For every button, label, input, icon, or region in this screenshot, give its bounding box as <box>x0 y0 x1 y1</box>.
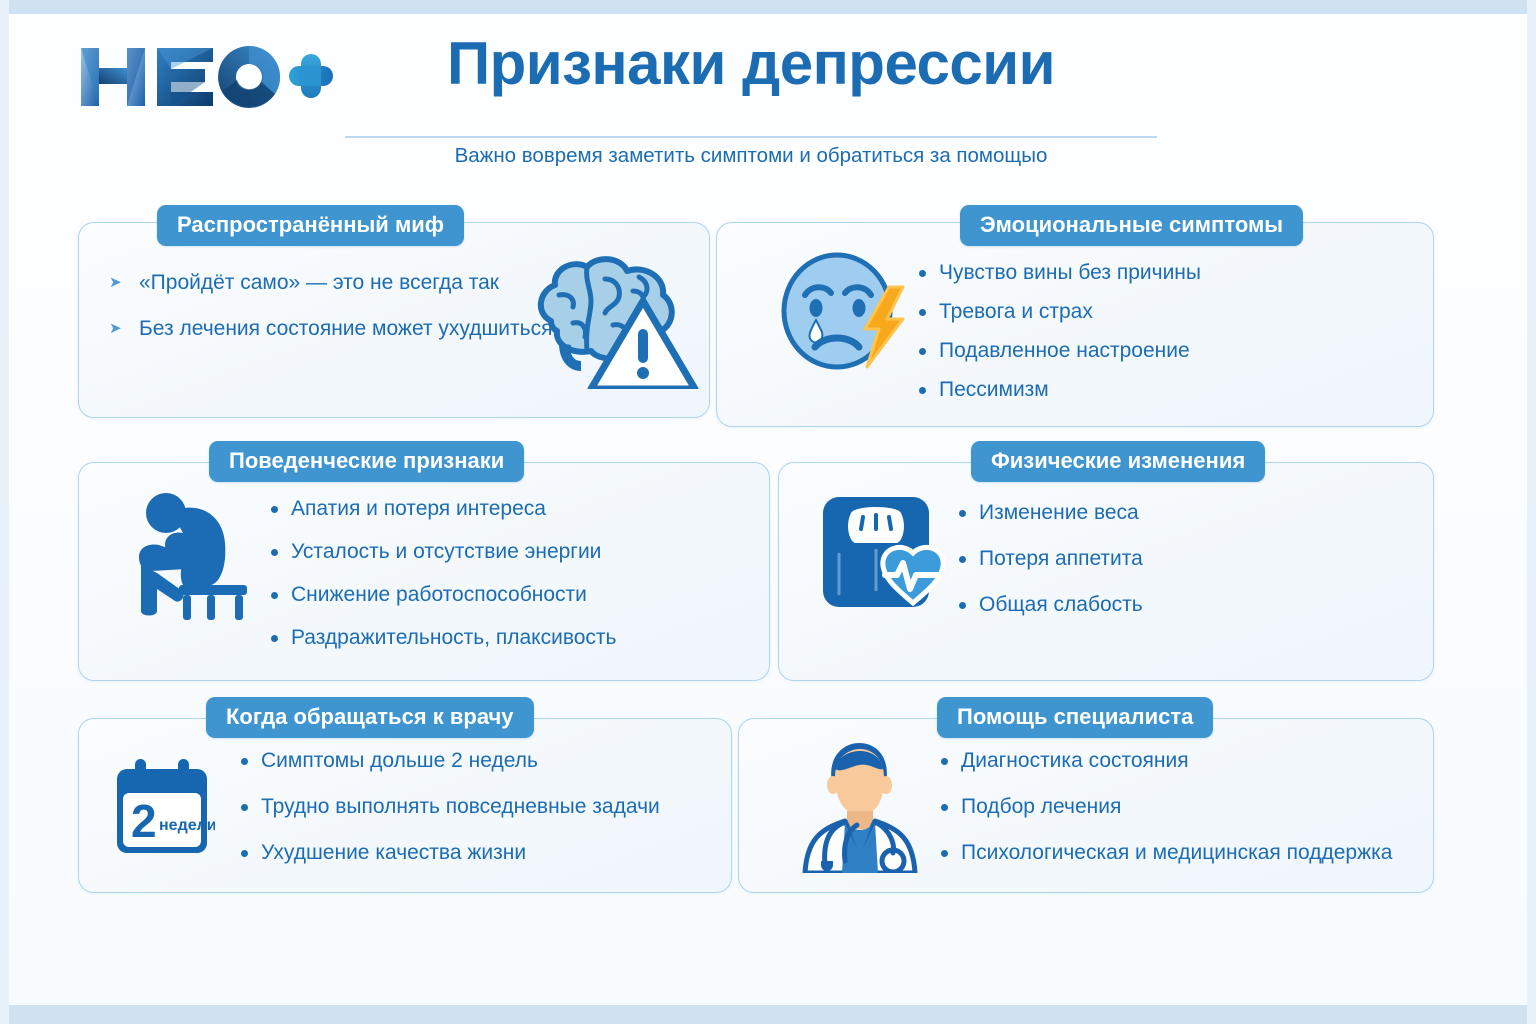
list-item: Диагностика состояния <box>939 749 1392 773</box>
calendar-number: 2 <box>131 795 157 847</box>
card-behavioral: Поведенческие признаки Апатия и потеря и… <box>78 462 770 681</box>
card-when-to-see-doctor-badge: Когда обращаться к врачу <box>206 697 534 738</box>
list-item: Пессимизм <box>917 378 1201 402</box>
page-title: Признаки депрессии <box>345 34 1157 94</box>
card-physical: Физические изменения Изме <box>778 462 1434 681</box>
title-divider <box>345 136 1157 138</box>
list-item: Симптомы дольше 2 недель <box>239 749 660 773</box>
bottom-band <box>0 1005 1536 1024</box>
list-item: Без лечения состояние может ухудшиться <box>109 317 552 341</box>
card-myth: Распространённый миф <box>78 222 710 418</box>
header: Признаки депрессии Важно вовремя заметит… <box>0 14 1536 169</box>
list-item: Усталость и отсутствие энергии <box>269 540 617 564</box>
infographic-page: Признаки депрессии Важно вовремя заметит… <box>0 0 1536 1024</box>
card-myth-bullets: «Пройдёт само» — это не всегда так Без л… <box>109 271 552 341</box>
card-physical-badge: Физические изменения <box>971 441 1265 482</box>
card-specialist-help-badge: Помощь специалиста <box>937 697 1213 738</box>
sad-face-lightning-icon <box>779 251 909 382</box>
list-item: Потеря аппетита <box>957 547 1143 571</box>
card-physical-bullets: Изменение веса Потеря аппетита Общая сла… <box>957 501 1143 617</box>
card-when-to-see-doctor-bullets: Симптомы дольше 2 недель Трудно выполнят… <box>239 749 660 865</box>
card-specialist-help-bullets: Диагностика состояния Подбор лечения Пси… <box>939 749 1392 865</box>
list-item: Общая слабость <box>957 593 1143 617</box>
brain-warning-icon <box>529 249 699 394</box>
card-specialist-help: Помощь специалиста <box>738 718 1434 893</box>
card-myth-badge: Распространённый миф <box>157 205 464 246</box>
card-when-to-see-doctor: Когда обращаться к врачу 2 недели Симпто… <box>78 718 732 893</box>
list-item: Ухудшение качества жизни <box>239 841 660 865</box>
page-subtitle: Важно вовремя заметить симптоми и обрати… <box>345 144 1157 168</box>
top-band <box>0 0 1536 14</box>
list-item: Изменение веса <box>957 501 1143 525</box>
list-item: Апатия и потеря интереса <box>269 497 617 521</box>
card-emotional-badge: Эмоциональные симптомы <box>960 205 1303 246</box>
calendar-unit: недели <box>159 817 215 834</box>
list-item: «Пройдёт само» — это не всегда так <box>109 271 552 295</box>
list-item: Психологическая и медицинская поддержка <box>939 841 1392 865</box>
calendar-2-weeks-icon: 2 недели <box>109 757 215 866</box>
list-item: Чувство вины без причины <box>917 261 1201 285</box>
list-item: Трудно выполнять повседневные задачи <box>239 795 660 819</box>
list-item: Подавленное настроение <box>917 339 1201 363</box>
list-item: Тревога и страх <box>917 300 1201 324</box>
list-item: Подбор лечения <box>939 795 1392 819</box>
card-emotional: Эмоциональные симптомы Чувство вины без … <box>716 222 1434 427</box>
neo-plus-logo <box>73 36 333 118</box>
card-behavioral-badge: Поведенческие признаки <box>209 441 524 482</box>
list-item: Снижение работоспособности <box>269 583 617 607</box>
weight-scale-heartbeat-icon <box>817 491 957 626</box>
list-item: Раздражительность, плаксивость <box>269 626 617 650</box>
card-emotional-bullets: Чувство вины без причины Тревога и страх… <box>917 261 1201 402</box>
doctor-icon <box>787 741 927 878</box>
card-behavioral-bullets: Апатия и потеря интереса Усталость и отс… <box>269 497 617 650</box>
slumped-person-icon <box>131 485 251 625</box>
